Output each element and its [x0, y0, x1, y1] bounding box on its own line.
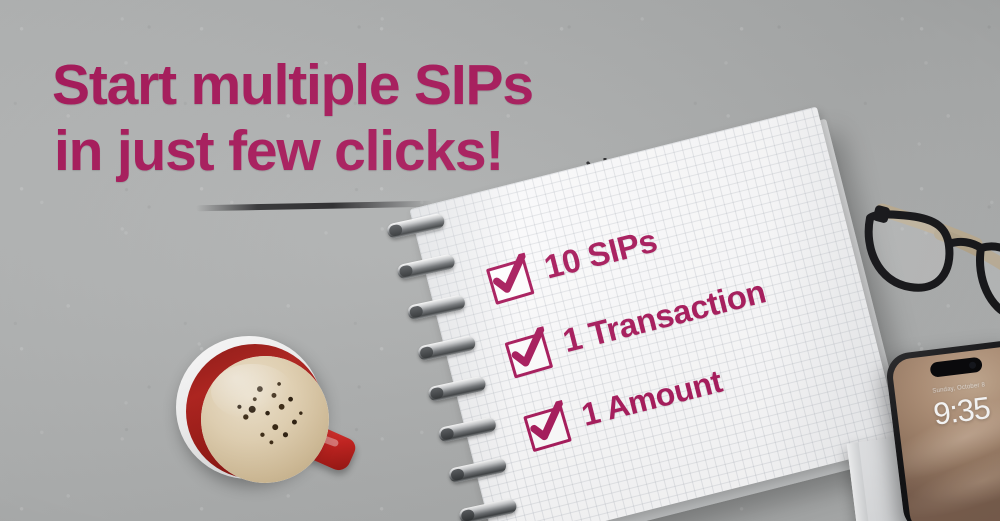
laptop-edge — [847, 442, 872, 521]
checkbox-checked-icon — [502, 326, 553, 375]
headline-line-1: Start multiple SIPs — [52, 52, 652, 118]
coffee-highlight — [211, 364, 293, 420]
phone-frame: Sunday, October 8 9:35 — [884, 338, 1000, 521]
dynamic-island — [929, 357, 982, 378]
headline-underline-stroke — [196, 201, 432, 212]
mug-interior — [201, 356, 329, 483]
page-title: Start multiple SIPs in just few clicks! — [52, 52, 652, 184]
phone-lock-screen: Sunday, October 8 9:35 — [891, 345, 1000, 521]
checkbox-checked-icon — [483, 253, 534, 302]
checkbox-checked-icon — [520, 400, 571, 449]
mug-rim — [186, 344, 324, 479]
eyeglasses — [848, 186, 1000, 321]
mug-body — [176, 336, 322, 479]
checklist-item-label: 1 Amount — [578, 363, 726, 433]
coffee-mug — [170, 332, 370, 492]
promo-banner: Start multiple SIPs in just few clicks! — [0, 0, 1000, 521]
checklist-item-label: 1 Transaction — [559, 273, 769, 359]
smartphone: Sunday, October 8 9:35 — [884, 338, 1000, 521]
